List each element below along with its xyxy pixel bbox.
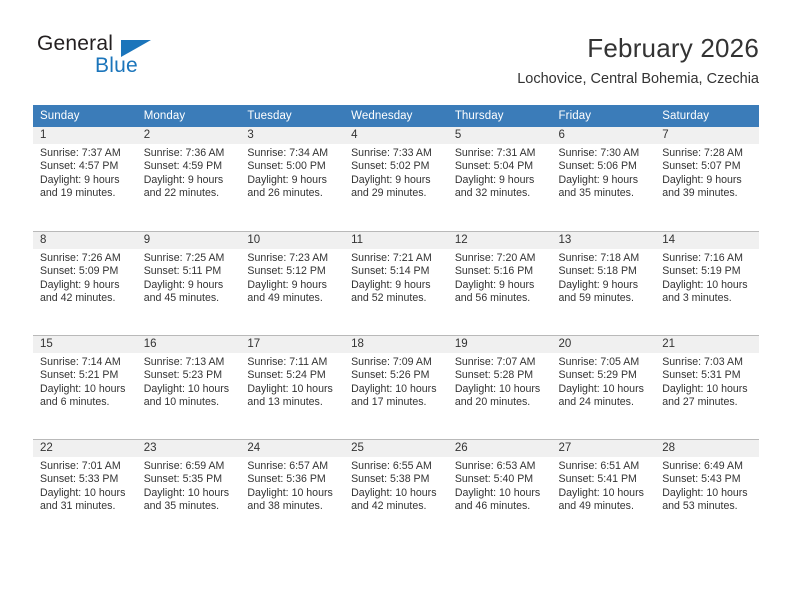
sunset-text: Sunset: 5:43 PM	[662, 473, 753, 486]
sunset-text: Sunset: 5:09 PM	[40, 265, 131, 278]
daylight-text-line1: Daylight: 10 hours	[559, 383, 650, 396]
day-number: 26	[448, 440, 552, 457]
sunrise-text: Sunrise: 7:26 AM	[40, 252, 131, 265]
daylight-text-line2: and 56 minutes.	[455, 292, 546, 305]
day-number: 19	[448, 336, 552, 353]
daylight-text-line1: Daylight: 10 hours	[247, 383, 338, 396]
sunrise-text: Sunrise: 7:33 AM	[351, 147, 442, 160]
sunrise-text: Sunrise: 7:07 AM	[455, 356, 546, 369]
day-number: 4	[344, 127, 448, 144]
sunset-text: Sunset: 5:07 PM	[662, 160, 753, 173]
page-title: February 2026	[517, 32, 759, 64]
sunset-text: Sunset: 4:57 PM	[40, 160, 131, 173]
logo-text-general: General	[37, 32, 113, 56]
weekday-header-tuesday: Tuesday	[240, 105, 344, 127]
sunset-text: Sunset: 5:40 PM	[455, 473, 546, 486]
day-number: 22	[33, 440, 137, 457]
sunrise-text: Sunrise: 7:36 AM	[144, 147, 235, 160]
daylight-text-line2: and 38 minutes.	[247, 500, 338, 513]
sunrise-text: Sunrise: 6:53 AM	[455, 460, 546, 473]
calendar-cell[interactable]: 11 Sunrise: 7:21 AM Sunset: 5:14 PM Dayl…	[344, 231, 448, 335]
day-details: Sunrise: 7:14 AM Sunset: 5:21 PM Dayligh…	[33, 353, 137, 410]
calendar-week-row: 22 Sunrise: 7:01 AM Sunset: 5:33 PM Dayl…	[33, 439, 759, 543]
day-details: Sunrise: 7:37 AM Sunset: 4:57 PM Dayligh…	[33, 144, 137, 201]
sunrise-text: Sunrise: 6:51 AM	[559, 460, 650, 473]
weekday-header-sunday: Sunday	[33, 105, 137, 127]
day-details: Sunrise: 7:01 AM Sunset: 5:33 PM Dayligh…	[33, 457, 137, 514]
calendar-cell[interactable]: 16 Sunrise: 7:13 AM Sunset: 5:23 PM Dayl…	[137, 335, 241, 439]
calendar-cell[interactable]: 12 Sunrise: 7:20 AM Sunset: 5:16 PM Dayl…	[448, 231, 552, 335]
sunset-text: Sunset: 5:04 PM	[455, 160, 546, 173]
daylight-text-line1: Daylight: 10 hours	[662, 279, 753, 292]
calendar-cell[interactable]: 4 Sunrise: 7:33 AM Sunset: 5:02 PM Dayli…	[344, 127, 448, 231]
calendar-cell[interactable]: 22 Sunrise: 7:01 AM Sunset: 5:33 PM Dayl…	[33, 439, 137, 543]
sunrise-text: Sunrise: 6:59 AM	[144, 460, 235, 473]
day-details: Sunrise: 7:18 AM Sunset: 5:18 PM Dayligh…	[552, 249, 656, 306]
daylight-text-line2: and 35 minutes.	[559, 187, 650, 200]
day-details: Sunrise: 6:55 AM Sunset: 5:38 PM Dayligh…	[344, 457, 448, 514]
day-details: Sunrise: 6:53 AM Sunset: 5:40 PM Dayligh…	[448, 457, 552, 514]
day-details: Sunrise: 6:59 AM Sunset: 5:35 PM Dayligh…	[137, 457, 241, 514]
daylight-text-line1: Daylight: 9 hours	[559, 279, 650, 292]
calendar-cell[interactable]: 5 Sunrise: 7:31 AM Sunset: 5:04 PM Dayli…	[448, 127, 552, 231]
day-details: Sunrise: 7:26 AM Sunset: 5:09 PM Dayligh…	[33, 249, 137, 306]
sunset-text: Sunset: 5:41 PM	[559, 473, 650, 486]
daylight-text-line1: Daylight: 10 hours	[662, 383, 753, 396]
day-details: Sunrise: 7:13 AM Sunset: 5:23 PM Dayligh…	[137, 353, 241, 410]
day-details: Sunrise: 7:34 AM Sunset: 5:00 PM Dayligh…	[240, 144, 344, 201]
sunrise-text: Sunrise: 7:03 AM	[662, 356, 753, 369]
day-number: 15	[33, 336, 137, 353]
day-number: 20	[552, 336, 656, 353]
day-details: Sunrise: 7:28 AM Sunset: 5:07 PM Dayligh…	[655, 144, 759, 201]
calendar-cell[interactable]: 27 Sunrise: 6:51 AM Sunset: 5:41 PM Dayl…	[552, 439, 656, 543]
sunset-text: Sunset: 5:31 PM	[662, 369, 753, 382]
day-number: 13	[552, 232, 656, 249]
calendar-cell[interactable]: 6 Sunrise: 7:30 AM Sunset: 5:06 PM Dayli…	[552, 127, 656, 231]
sunset-text: Sunset: 5:02 PM	[351, 160, 442, 173]
daylight-text-line2: and 13 minutes.	[247, 396, 338, 409]
daylight-text-line2: and 53 minutes.	[662, 500, 753, 513]
calendar-cell[interactable]: 13 Sunrise: 7:18 AM Sunset: 5:18 PM Dayl…	[552, 231, 656, 335]
daylight-text-line1: Daylight: 10 hours	[247, 487, 338, 500]
daylight-text-line1: Daylight: 10 hours	[40, 383, 131, 396]
daylight-text-line2: and 42 minutes.	[351, 500, 442, 513]
sunset-text: Sunset: 5:00 PM	[247, 160, 338, 173]
general-blue-logo[interactable]: General Blue	[33, 32, 253, 86]
daylight-text-line1: Daylight: 10 hours	[455, 383, 546, 396]
sunset-text: Sunset: 5:33 PM	[40, 473, 131, 486]
daylight-text-line2: and 49 minutes.	[559, 500, 650, 513]
weekday-header-friday: Friday	[552, 105, 656, 127]
sunrise-text: Sunrise: 7:01 AM	[40, 460, 131, 473]
daylight-text-line2: and 39 minutes.	[662, 187, 753, 200]
sunset-text: Sunset: 5:19 PM	[662, 265, 753, 278]
sunrise-text: Sunrise: 7:13 AM	[144, 356, 235, 369]
daylight-text-line1: Daylight: 10 hours	[559, 487, 650, 500]
day-number: 28	[655, 440, 759, 457]
daylight-text-line2: and 20 minutes.	[455, 396, 546, 409]
sunrise-text: Sunrise: 7:21 AM	[351, 252, 442, 265]
day-details: Sunrise: 7:03 AM Sunset: 5:31 PM Dayligh…	[655, 353, 759, 410]
calendar-cell[interactable]: 2 Sunrise: 7:36 AM Sunset: 4:59 PM Dayli…	[137, 127, 241, 231]
logo-text-blue: Blue	[95, 54, 138, 78]
sunset-text: Sunset: 5:28 PM	[455, 369, 546, 382]
day-details: Sunrise: 7:23 AM Sunset: 5:12 PM Dayligh…	[240, 249, 344, 306]
daylight-text-line2: and 31 minutes.	[40, 500, 131, 513]
day-details: Sunrise: 7:16 AM Sunset: 5:19 PM Dayligh…	[655, 249, 759, 306]
day-details: Sunrise: 6:51 AM Sunset: 5:41 PM Dayligh…	[552, 457, 656, 514]
daylight-text-line1: Daylight: 9 hours	[559, 174, 650, 187]
daylight-text-line2: and 19 minutes.	[40, 187, 131, 200]
daylight-text-line1: Daylight: 10 hours	[662, 487, 753, 500]
sunrise-text: Sunrise: 7:34 AM	[247, 147, 338, 160]
sunrise-text: Sunrise: 7:20 AM	[455, 252, 546, 265]
sunrise-text: Sunrise: 7:14 AM	[40, 356, 131, 369]
sunset-text: Sunset: 5:29 PM	[559, 369, 650, 382]
sunset-text: Sunset: 5:14 PM	[351, 265, 442, 278]
calendar-cell[interactable]: 7 Sunrise: 7:28 AM Sunset: 5:07 PM Dayli…	[655, 127, 759, 231]
calendar-cell[interactable]: 15 Sunrise: 7:14 AM Sunset: 5:21 PM Dayl…	[33, 335, 137, 439]
daylight-text-line1: Daylight: 9 hours	[455, 279, 546, 292]
daylight-text-line1: Daylight: 9 hours	[144, 279, 235, 292]
daylight-text-line2: and 17 minutes.	[351, 396, 442, 409]
sunset-text: Sunset: 5:11 PM	[144, 265, 235, 278]
calendar-cell[interactable]: 26 Sunrise: 6:53 AM Sunset: 5:40 PM Dayl…	[448, 439, 552, 543]
daylight-text-line2: and 24 minutes.	[559, 396, 650, 409]
sunset-text: Sunset: 5:26 PM	[351, 369, 442, 382]
daylight-text-line2: and 22 minutes.	[144, 187, 235, 200]
calendar-cell[interactable]: 28 Sunrise: 6:49 AM Sunset: 5:43 PM Dayl…	[655, 439, 759, 543]
calendar-cell[interactable]: 9 Sunrise: 7:25 AM Sunset: 5:11 PM Dayli…	[137, 231, 241, 335]
calendar-page: General Blue February 2026 Lochovice, Ce…	[0, 0, 792, 612]
daylight-text-line1: Daylight: 10 hours	[455, 487, 546, 500]
sunrise-text: Sunrise: 7:30 AM	[559, 147, 650, 160]
daylight-text-line2: and 26 minutes.	[247, 187, 338, 200]
sunrise-text: Sunrise: 7:18 AM	[559, 252, 650, 265]
day-number: 21	[655, 336, 759, 353]
daylight-text-line2: and 35 minutes.	[144, 500, 235, 513]
calendar-cell[interactable]: 18 Sunrise: 7:09 AM Sunset: 5:26 PM Dayl…	[344, 335, 448, 439]
daylight-text-line1: Daylight: 9 hours	[455, 174, 546, 187]
daylight-text-line2: and 3 minutes.	[662, 292, 753, 305]
day-number: 9	[137, 232, 241, 249]
daylight-text-line1: Daylight: 9 hours	[247, 174, 338, 187]
calendar-cell[interactable]: 25 Sunrise: 6:55 AM Sunset: 5:38 PM Dayl…	[344, 439, 448, 543]
calendar-header-row: Sunday Monday Tuesday Wednesday Thursday…	[33, 105, 759, 127]
sunrise-text: Sunrise: 7:05 AM	[559, 356, 650, 369]
sunset-text: Sunset: 5:38 PM	[351, 473, 442, 486]
day-details: Sunrise: 7:36 AM Sunset: 4:59 PM Dayligh…	[137, 144, 241, 201]
daylight-text-line1: Daylight: 10 hours	[351, 487, 442, 500]
calendar-cell[interactable]: 23 Sunrise: 6:59 AM Sunset: 5:35 PM Dayl…	[137, 439, 241, 543]
daylight-text-line1: Daylight: 9 hours	[662, 174, 753, 187]
calendar-cell[interactable]: 14 Sunrise: 7:16 AM Sunset: 5:19 PM Dayl…	[655, 231, 759, 335]
sunset-text: Sunset: 5:35 PM	[144, 473, 235, 486]
day-number: 14	[655, 232, 759, 249]
day-number: 16	[137, 336, 241, 353]
daylight-text-line1: Daylight: 9 hours	[40, 279, 131, 292]
weekday-header-wednesday: Wednesday	[344, 105, 448, 127]
page-subtitle: Lochovice, Central Bohemia, Czechia	[517, 68, 759, 90]
daylight-text-line2: and 52 minutes.	[351, 292, 442, 305]
calendar-week-row: 8 Sunrise: 7:26 AM Sunset: 5:09 PM Dayli…	[33, 231, 759, 335]
weekday-header-monday: Monday	[137, 105, 241, 127]
sunrise-text: Sunrise: 7:09 AM	[351, 356, 442, 369]
calendar-cell[interactable]: 19 Sunrise: 7:07 AM Sunset: 5:28 PM Dayl…	[448, 335, 552, 439]
daylight-text-line2: and 29 minutes.	[351, 187, 442, 200]
daylight-text-line2: and 46 minutes.	[455, 500, 546, 513]
day-number: 17	[240, 336, 344, 353]
calendar-cell[interactable]: 1 Sunrise: 7:37 AM Sunset: 4:57 PM Dayli…	[33, 127, 137, 231]
daylight-text-line2: and 32 minutes.	[455, 187, 546, 200]
calendar-cell[interactable]: 24 Sunrise: 6:57 AM Sunset: 5:36 PM Dayl…	[240, 439, 344, 543]
calendar-cell[interactable]: 8 Sunrise: 7:26 AM Sunset: 5:09 PM Dayli…	[33, 231, 137, 335]
daylight-text-line2: and 10 minutes.	[144, 396, 235, 409]
daylight-text-line1: Daylight: 9 hours	[144, 174, 235, 187]
sunset-text: Sunset: 4:59 PM	[144, 160, 235, 173]
calendar-cell[interactable]: 3 Sunrise: 7:34 AM Sunset: 5:00 PM Dayli…	[240, 127, 344, 231]
weekday-header-thursday: Thursday	[448, 105, 552, 127]
day-details: Sunrise: 7:20 AM Sunset: 5:16 PM Dayligh…	[448, 249, 552, 306]
sunset-text: Sunset: 5:21 PM	[40, 369, 131, 382]
day-number: 24	[240, 440, 344, 457]
day-details: Sunrise: 7:11 AM Sunset: 5:24 PM Dayligh…	[240, 353, 344, 410]
daylight-text-line2: and 49 minutes.	[247, 292, 338, 305]
day-number: 2	[137, 127, 241, 144]
daylight-text-line2: and 42 minutes.	[40, 292, 131, 305]
sunrise-text: Sunrise: 7:31 AM	[455, 147, 546, 160]
daylight-text-line1: Daylight: 10 hours	[144, 487, 235, 500]
day-details: Sunrise: 7:05 AM Sunset: 5:29 PM Dayligh…	[552, 353, 656, 410]
day-number: 5	[448, 127, 552, 144]
day-details: Sunrise: 7:07 AM Sunset: 5:28 PM Dayligh…	[448, 353, 552, 410]
sunrise-text: Sunrise: 6:57 AM	[247, 460, 338, 473]
sunrise-text: Sunrise: 7:28 AM	[662, 147, 753, 160]
day-number: 7	[655, 127, 759, 144]
day-details: Sunrise: 6:57 AM Sunset: 5:36 PM Dayligh…	[240, 457, 344, 514]
sunrise-text: Sunrise: 7:25 AM	[144, 252, 235, 265]
weekday-header-saturday: Saturday	[655, 105, 759, 127]
day-number: 12	[448, 232, 552, 249]
daylight-text-line1: Daylight: 9 hours	[247, 279, 338, 292]
sunset-text: Sunset: 5:16 PM	[455, 265, 546, 278]
calendar-cell[interactable]: 10 Sunrise: 7:23 AM Sunset: 5:12 PM Dayl…	[240, 231, 344, 335]
daylight-text-line1: Daylight: 9 hours	[40, 174, 131, 187]
day-number: 10	[240, 232, 344, 249]
day-number: 23	[137, 440, 241, 457]
daylight-text-line2: and 27 minutes.	[662, 396, 753, 409]
sunset-text: Sunset: 5:36 PM	[247, 473, 338, 486]
day-number: 3	[240, 127, 344, 144]
day-number: 25	[344, 440, 448, 457]
day-number: 6	[552, 127, 656, 144]
daylight-text-line2: and 6 minutes.	[40, 396, 131, 409]
month-calendar-table: Sunday Monday Tuesday Wednesday Thursday…	[33, 105, 759, 543]
calendar-body: 1 Sunrise: 7:37 AM Sunset: 4:57 PM Dayli…	[33, 127, 759, 543]
day-details: Sunrise: 7:25 AM Sunset: 5:11 PM Dayligh…	[137, 249, 241, 306]
sunset-text: Sunset: 5:24 PM	[247, 369, 338, 382]
daylight-text-line1: Daylight: 9 hours	[351, 174, 442, 187]
daylight-text-line1: Daylight: 10 hours	[351, 383, 442, 396]
day-details: Sunrise: 7:33 AM Sunset: 5:02 PM Dayligh…	[344, 144, 448, 201]
sunset-text: Sunset: 5:06 PM	[559, 160, 650, 173]
daylight-text-line1: Daylight: 10 hours	[144, 383, 235, 396]
sunset-text: Sunset: 5:18 PM	[559, 265, 650, 278]
day-number: 11	[344, 232, 448, 249]
day-number: 8	[33, 232, 137, 249]
calendar-week-row: 1 Sunrise: 7:37 AM Sunset: 4:57 PM Dayli…	[33, 127, 759, 231]
calendar-cell[interactable]: 20 Sunrise: 7:05 AM Sunset: 5:29 PM Dayl…	[552, 335, 656, 439]
daylight-text-line2: and 45 minutes.	[144, 292, 235, 305]
daylight-text-line1: Daylight: 10 hours	[40, 487, 131, 500]
calendar-cell[interactable]: 21 Sunrise: 7:03 AM Sunset: 5:31 PM Dayl…	[655, 335, 759, 439]
page-header: General Blue February 2026 Lochovice, Ce…	[33, 32, 759, 92]
day-details: Sunrise: 7:21 AM Sunset: 5:14 PM Dayligh…	[344, 249, 448, 306]
sunrise-text: Sunrise: 6:49 AM	[662, 460, 753, 473]
calendar-week-row: 15 Sunrise: 7:14 AM Sunset: 5:21 PM Dayl…	[33, 335, 759, 439]
day-details: Sunrise: 7:30 AM Sunset: 5:06 PM Dayligh…	[552, 144, 656, 201]
sunrise-text: Sunrise: 6:55 AM	[351, 460, 442, 473]
sunrise-text: Sunrise: 7:16 AM	[662, 252, 753, 265]
sunset-text: Sunset: 5:23 PM	[144, 369, 235, 382]
calendar-cell[interactable]: 17 Sunrise: 7:11 AM Sunset: 5:24 PM Dayl…	[240, 335, 344, 439]
day-number: 27	[552, 440, 656, 457]
title-block: February 2026 Lochovice, Central Bohemia…	[517, 32, 759, 90]
day-number: 18	[344, 336, 448, 353]
sunrise-text: Sunrise: 7:23 AM	[247, 252, 338, 265]
day-number: 1	[33, 127, 137, 144]
sunrise-text: Sunrise: 7:37 AM	[40, 147, 131, 160]
day-details: Sunrise: 7:09 AM Sunset: 5:26 PM Dayligh…	[344, 353, 448, 410]
daylight-text-line2: and 59 minutes.	[559, 292, 650, 305]
sunset-text: Sunset: 5:12 PM	[247, 265, 338, 278]
day-details: Sunrise: 6:49 AM Sunset: 5:43 PM Dayligh…	[655, 457, 759, 514]
day-details: Sunrise: 7:31 AM Sunset: 5:04 PM Dayligh…	[448, 144, 552, 201]
daylight-text-line1: Daylight: 9 hours	[351, 279, 442, 292]
sunrise-text: Sunrise: 7:11 AM	[247, 356, 338, 369]
